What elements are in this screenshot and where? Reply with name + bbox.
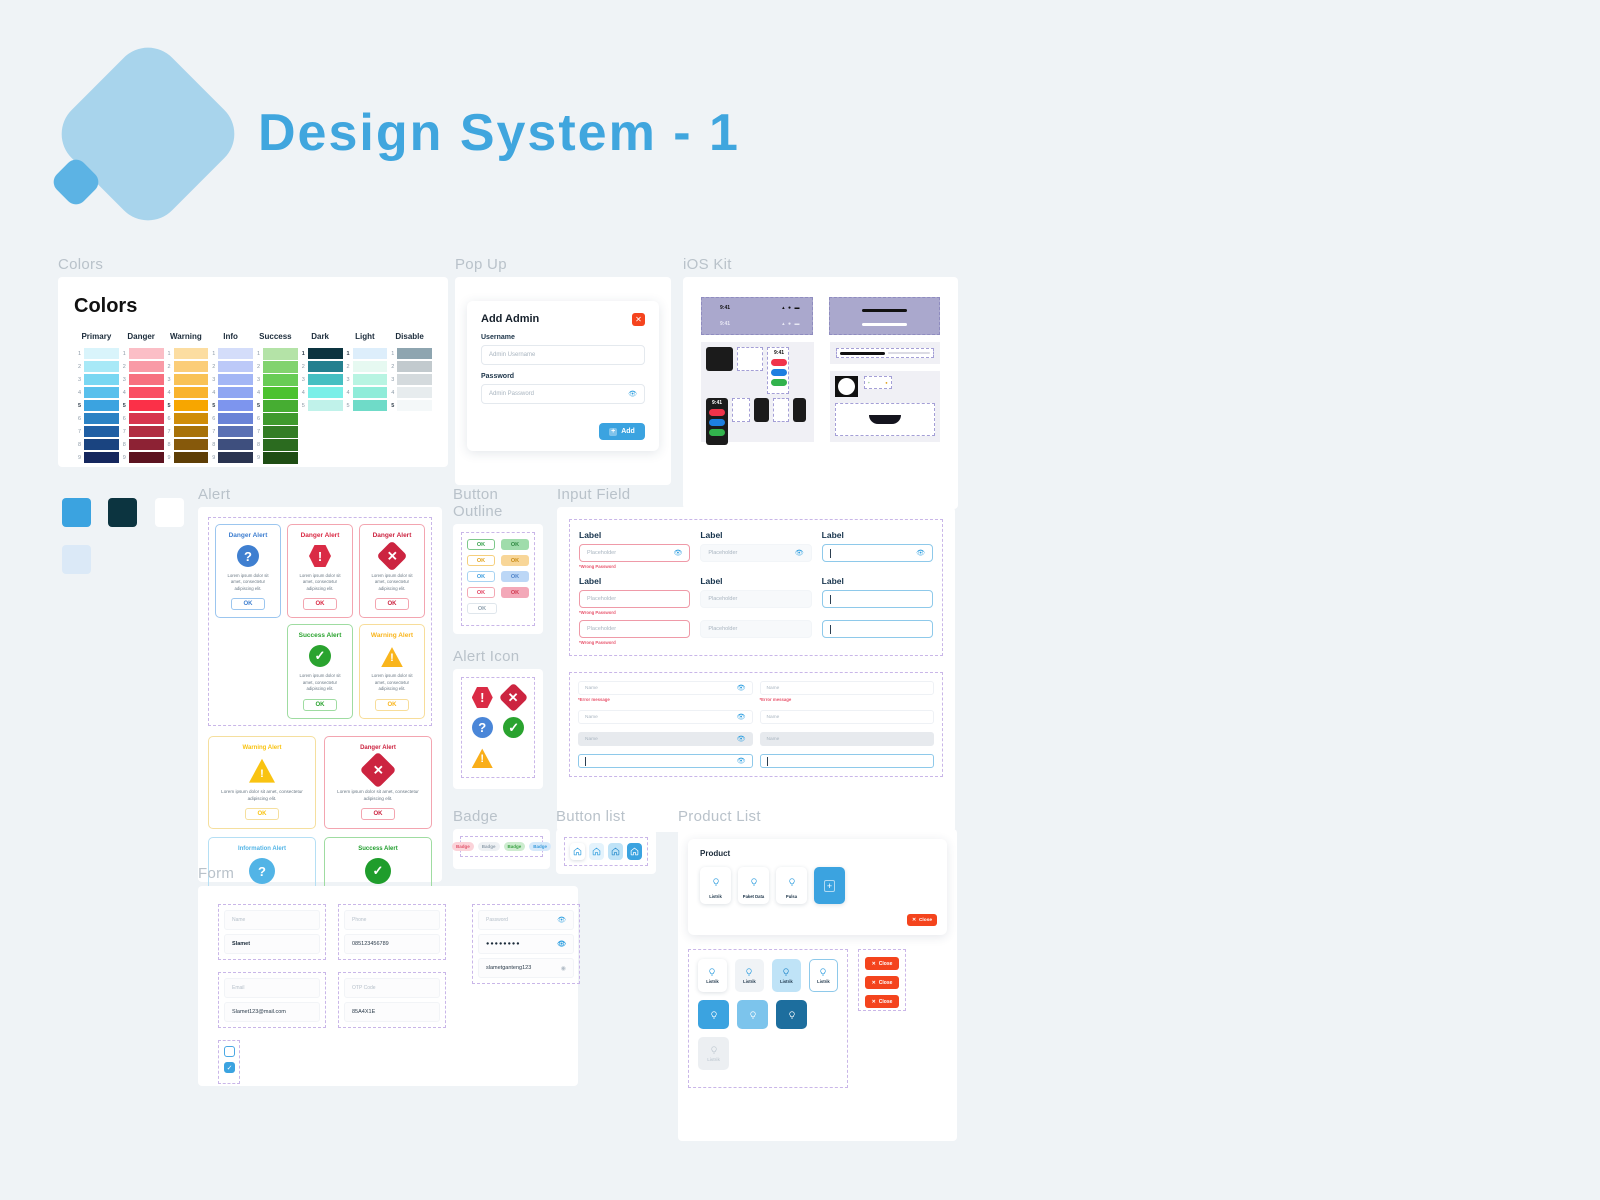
input-error[interactable]: Placeholder <box>579 590 690 608</box>
form-name-placeholder-row[interactable]: Name <box>224 910 320 930</box>
close-button[interactable]: ✕Close <box>865 957 899 970</box>
ok-button-filled[interactable]: OK <box>501 555 529 566</box>
form-otp-group: OTP Code 85A4X1E <box>338 972 446 1028</box>
swatch-row: 9 <box>164 452 209 463</box>
swatch-row: 7 <box>253 426 298 437</box>
form-otp-placeholder-row[interactable]: OTP Code <box>344 978 440 998</box>
popup-card: Add Admin ✕ Username Admin Username Pass… <box>455 277 671 485</box>
swatch <box>174 400 209 411</box>
button-list-item[interactable] <box>570 843 585 860</box>
button-list-item[interactable] <box>627 843 642 860</box>
alert-icon-label: Alert Icon <box>453 648 543 665</box>
ramp-title: Dark <box>298 332 343 341</box>
alert-body: Lorem ipsum dolor sit amet, consectetur … <box>294 673 346 692</box>
swatch-row: 4 <box>164 387 209 398</box>
form-password-group: Password 👁 ●●●●●●●● 👁 slametganteng123 ◉ <box>472 904 580 984</box>
swatch-step: 1 <box>343 351 350 357</box>
alert-ok-button[interactable]: OK <box>231 598 265 610</box>
data-package-icon <box>750 873 758 891</box>
form-password-placeholder-row[interactable]: Password 👁 <box>478 910 574 930</box>
swatch <box>129 400 164 411</box>
swatch-step: 3 <box>74 377 81 383</box>
form-otp-placeholder: OTP Code <box>352 985 376 991</box>
button-list-row <box>564 837 648 866</box>
color-ramp-warning: Warning123456789 <box>164 332 209 465</box>
swatch-row: 1 <box>119 348 164 359</box>
input-focused[interactable] <box>822 590 933 608</box>
small-input-focused[interactable] <box>760 754 935 768</box>
button-outline-section: Button Outline OKOKOKOKOKOKOKOKOK <box>453 486 543 634</box>
swatch <box>397 400 432 411</box>
swatch-row: 6 <box>164 413 209 424</box>
alert-icon: ✕ <box>360 751 397 788</box>
form-password-placeholder: Password <box>486 917 508 923</box>
add-button-label: Add <box>621 428 635 435</box>
eye-icon[interactable]: ◉ <box>561 965 566 972</box>
swatch <box>218 439 253 450</box>
swatch-row: 8 <box>74 439 119 450</box>
swatch-step: 5 <box>119 403 126 409</box>
product-label: Pulsa <box>786 894 797 899</box>
home-icon <box>630 843 639 861</box>
swatch-row: 4 <box>298 387 343 398</box>
input-default-2[interactable]: Placeholder <box>700 620 811 638</box>
form-phone-value-row[interactable]: 085123456789 <box>344 934 440 954</box>
eye-off-icon[interactable]: 👁 <box>737 713 746 721</box>
swatch-step: 4 <box>74 390 81 396</box>
color-ramp-light: Light12345 <box>343 332 388 465</box>
swatch-step: 7 <box>253 429 260 435</box>
alert-ok-button[interactable]: OK <box>245 808 279 820</box>
swatch <box>84 426 119 437</box>
product-label: Listrik <box>707 1057 720 1062</box>
swatch-row: 3 <box>343 374 388 385</box>
password-placeholder: Admin Password <box>489 391 534 397</box>
swatch-row: 7 <box>119 426 164 437</box>
ok-button-outline[interactable]: OK <box>467 539 495 550</box>
alert-title: Information Alert <box>238 846 286 852</box>
form-phone-placeholder-row[interactable]: Phone <box>344 910 440 930</box>
alert-ok-button[interactable]: OK <box>375 699 409 711</box>
lightbulb-icon <box>712 873 720 891</box>
small-input-with-eye[interactable]: Name 👁 <box>578 681 753 695</box>
swatch-step: 1 <box>208 351 215 357</box>
alert-icon-section: Alert Icon !✕?✓! <box>453 648 543 789</box>
diamond-logo-icon <box>55 55 285 230</box>
alert-box: Warning Alert!Lorem ipsum dolor sit amet… <box>359 624 425 718</box>
swatch-step: 4 <box>119 390 126 396</box>
ok-button-outline[interactable]: OK <box>467 603 497 614</box>
lightbulb-icon <box>749 1006 757 1024</box>
close-x-icon: ✕ <box>872 961 876 967</box>
ios-home-indicator-group <box>829 297 940 335</box>
small-input-2[interactable]: Name <box>760 710 935 724</box>
alert-ok-button[interactable]: OK <box>303 699 337 711</box>
alert-grid-top: Danger Alert?Lorem ipsum dolor sit amet,… <box>208 517 432 726</box>
alert-box: Danger Alert?Lorem ipsum dolor sit amet,… <box>215 524 281 618</box>
add-button[interactable]: + Add <box>599 423 645 440</box>
small-input-error: *Error message <box>578 697 753 702</box>
alert-icon: ✕ <box>499 683 529 713</box>
alert-section-label: Alert <box>198 486 442 503</box>
eye-off-icon[interactable]: 👁 <box>557 940 566 948</box>
phone-credit-icon <box>788 873 796 891</box>
product-list-label: Product List <box>678 808 957 825</box>
form-email-placeholder-row[interactable]: Email <box>224 978 320 998</box>
close-button[interactable]: ✕Close <box>865 995 899 1008</box>
swatch-row: 9 <box>119 452 164 463</box>
form-section: Form Name Slamet Email Slamet123@ <box>198 865 578 1086</box>
eye-off-icon[interactable]: 👁 <box>628 390 637 398</box>
input-default[interactable]: Placeholder <box>700 590 811 608</box>
swatch-white <box>155 498 184 527</box>
swatch-row: 8 <box>119 439 164 450</box>
alert-title: Success Alert <box>358 846 397 852</box>
swatch <box>263 374 298 386</box>
swatch-row: 9 <box>74 452 119 463</box>
swatch-step: 4 <box>298 390 305 396</box>
input-group-7: Placeholder *Wrong Password <box>579 620 690 645</box>
swatch <box>84 452 119 463</box>
form-email-value-row[interactable]: Slamet123@mail.com <box>224 1002 320 1022</box>
swatch <box>353 400 388 411</box>
swatch-row: 5 <box>298 400 343 411</box>
form-password-masked: ●●●●●●●● <box>486 941 521 947</box>
eye-off-icon[interactable]: 👁 <box>737 757 746 765</box>
ok-button-outline[interactable]: OK <box>467 555 495 566</box>
signal-wifi-battery-icon-light: ▴ ● ▬ <box>782 321 800 327</box>
ramp-title: Info <box>208 332 253 341</box>
swatch-step: 2 <box>119 364 126 370</box>
small-input-focused-with-eye[interactable]: 👁 <box>578 754 753 768</box>
product-state-card[interactable] <box>776 1000 807 1029</box>
product-close-button[interactable]: ✕ Close <box>907 914 937 926</box>
input-placeholder: Placeholder <box>587 626 616 632</box>
alert-icon: ! <box>309 545 331 567</box>
ok-button-filled[interactable]: OK <box>501 571 529 582</box>
swatch-step: 6 <box>164 416 171 422</box>
username-placeholder: Admin Username <box>489 352 535 358</box>
swatch-row: 5 <box>253 400 298 411</box>
swatch <box>397 374 432 385</box>
alert-title: Success Alert <box>299 632 342 639</box>
swatch-step: 9 <box>253 455 260 461</box>
input-field-card: Label Placeholder 👁 *Wrong Password Labe… <box>557 507 955 832</box>
swatch-step: 2 <box>387 364 394 370</box>
colors-card: Colors Primary123456789Danger123456789Wa… <box>58 277 448 467</box>
alert-icon: ! <box>249 757 275 783</box>
swatch-row: 7 <box>208 426 253 437</box>
input-placeholder: Placeholder <box>708 550 737 556</box>
form-card: Name Slamet Email Slamet123@mail.com <box>198 886 578 1086</box>
swatch-step: 5 <box>298 403 305 409</box>
product-state-card[interactable] <box>737 1000 768 1029</box>
form-email-placeholder: Email <box>232 985 245 991</box>
swatch-step: 7 <box>164 429 171 435</box>
alert-box: Warning Alert!Lorem ipsum dolor sit amet… <box>208 736 316 830</box>
input-small-grid: Name 👁 *Error message Name *Error messag… <box>569 672 943 777</box>
close-diamond-icon: ✕ <box>503 687 524 708</box>
swatch <box>353 374 388 385</box>
swatch <box>84 413 119 424</box>
input-label: Label <box>822 576 933 586</box>
input-error-text: *Wrong Password <box>579 640 690 645</box>
input-label: Label <box>579 530 690 540</box>
swatch-light <box>62 545 91 574</box>
input-placeholder: Placeholder <box>708 626 737 632</box>
signal-wifi-battery-icon: ▴ ● ▬ <box>782 305 800 311</box>
form-password-masked-row[interactable]: ●●●●●●●● 👁 <box>478 934 574 954</box>
alert-body: Lorem ipsum dolor sit amet, consectetur … <box>216 789 308 803</box>
product-state-card[interactable]: Listrik <box>809 959 838 992</box>
button-outline-row: OKOK <box>467 539 529 550</box>
product-panel: Product ListrikPaket DataPulsa+ ✕ Close <box>688 839 947 935</box>
swatch-row: 2 <box>253 361 298 372</box>
form-otp-value: 85A4X1E <box>352 1009 375 1015</box>
swatch <box>353 361 388 372</box>
product-label: Listrik <box>743 979 756 984</box>
swatch <box>218 374 253 385</box>
swatch-row: 2 <box>119 361 164 372</box>
swatch-row: 2 <box>343 361 388 372</box>
close-button[interactable]: ✕Close <box>865 976 899 989</box>
badge-pill: Badge <box>478 842 500 851</box>
product-state-card[interactable]: Listrik <box>735 959 764 992</box>
product-item[interactable]: Pulsa <box>776 867 807 904</box>
add-admin-dialog: Add Admin ✕ Username Admin Username Pass… <box>467 301 659 451</box>
ios-kit-card: 9:41 ▴ ● ▬ 9:41 ▴ ● ▬ 9:41 <box>683 277 958 509</box>
swatch <box>174 439 209 450</box>
alert-icon: ✕ <box>376 540 407 571</box>
swatch <box>218 387 253 398</box>
swatch-row: 1 <box>343 348 388 359</box>
checkbox-unchecked[interactable] <box>224 1046 235 1057</box>
swatch-step: 5 <box>387 403 394 409</box>
small-input-error: *Error message <box>760 697 935 702</box>
alert-icon: ? <box>472 717 493 738</box>
swatch <box>308 361 343 372</box>
color-ramps: Primary123456789Danger123456789Warning12… <box>74 332 432 465</box>
lightbulb-icon <box>819 968 827 977</box>
input-focused-with-eye[interactable]: 👁 <box>822 544 933 562</box>
swatch-step: 8 <box>208 442 215 448</box>
username-input[interactable]: Admin Username <box>481 345 645 365</box>
alert-ok-button[interactable]: OK <box>375 598 409 610</box>
brand-swatches <box>62 498 197 579</box>
form-checkbox-group: ✓ <box>218 1040 240 1084</box>
form-password-revealed: slametganteng123 <box>486 965 531 971</box>
product-add-button[interactable]: + <box>814 867 845 904</box>
swatch-step: 2 <box>74 364 81 370</box>
alert-spacer <box>215 624 281 718</box>
form-name-value-row[interactable]: Slamet <box>224 934 320 954</box>
swatch <box>174 452 209 463</box>
color-ramp-dark: Dark12345 <box>298 332 343 465</box>
alert-title: Warning Alert <box>371 632 413 639</box>
badge-section: Badge BadgeBadgeBadgeBadge <box>453 808 550 869</box>
swatch-row: 1 <box>253 348 298 359</box>
alert-ok-button[interactable]: OK <box>303 598 337 610</box>
product-row: ListrikPaket DataPulsa+ <box>700 867 935 904</box>
form-phone-placeholder: Phone <box>352 917 366 923</box>
product-item[interactable]: Listrik <box>700 867 731 904</box>
small-input-placeholder: Name <box>585 737 598 742</box>
swatch <box>397 361 432 372</box>
eye-off-icon: 👁 <box>737 735 746 743</box>
product-label: Listrik <box>817 979 830 984</box>
product-state-grid: ListrikListrikListrikListrikListrik <box>688 949 848 1088</box>
swatch-row: 1 <box>387 348 432 359</box>
close-label: Close <box>879 980 893 986</box>
ok-button-filled[interactable]: OK <box>501 539 529 550</box>
alert-title: Danger Alert <box>229 532 268 539</box>
home-icon <box>592 843 601 861</box>
password-label: Password <box>481 373 645 380</box>
close-button-variants: ✕Close✕Close✕Close <box>858 949 906 1011</box>
ios-kit-section-label: iOS Kit <box>683 256 958 273</box>
swatch-step: 9 <box>119 455 126 461</box>
lightbulb-icon <box>710 1046 718 1055</box>
alert-body: Lorem ipsum dolor sit amet, consectetur … <box>366 673 418 692</box>
swatch-step: 5 <box>74 403 81 409</box>
input-group-1: Label Placeholder 👁 *Wrong Password <box>579 530 690 569</box>
home-icon <box>611 843 620 861</box>
swatch-step: 6 <box>74 416 81 422</box>
close-x-icon[interactable]: ✕ <box>632 313 645 326</box>
eye-off-icon[interactable]: 👁 <box>916 549 925 557</box>
badge-row: BadgeBadgeBadgeBadge <box>460 836 543 857</box>
product-state-card[interactable]: Listrik <box>698 959 727 992</box>
swatch <box>218 400 253 411</box>
swatch-step: 1 <box>74 351 81 357</box>
swatch <box>353 387 388 398</box>
eye-off-icon[interactable]: 👁 <box>557 916 566 924</box>
input-error-with-eye[interactable]: Placeholder 👁 <box>579 544 690 562</box>
swatch-row: 2 <box>208 361 253 372</box>
swatch-step: 4 <box>208 390 215 396</box>
colors-section: Colors Colors Primary123456789Danger1234… <box>58 256 448 467</box>
badge-pill: Badge <box>452 842 474 851</box>
swatch-step: 1 <box>253 351 260 357</box>
eye-off-icon[interactable]: 👁 <box>737 684 746 692</box>
small-input[interactable]: Name <box>760 681 935 695</box>
form-phone-group: Phone 085123456789 <box>338 904 446 960</box>
swatch-step: 3 <box>208 377 215 383</box>
ok-button-filled[interactable]: OK <box>501 587 529 598</box>
small-input-group-2: Name *Error message <box>760 681 935 702</box>
input-label: Label <box>700 576 811 586</box>
color-ramp-success: Success123456789 <box>253 332 298 465</box>
input-group-6: Label <box>822 576 933 615</box>
ios-statusbar-group: 9:41 ▴ ● ▬ 9:41 ▴ ● ▬ <box>701 297 813 335</box>
swatch-row: 6 <box>253 413 298 424</box>
ok-button-outline[interactable]: OK <box>467 587 495 598</box>
input-field-grid: Label Placeholder 👁 *Wrong Password Labe… <box>569 519 943 656</box>
input-group-2: Label Placeholder 👁 <box>700 530 811 569</box>
swatch <box>308 387 343 398</box>
input-group-9 <box>822 620 933 645</box>
button-list-item[interactable] <box>589 843 604 860</box>
text-caret <box>830 595 831 604</box>
alert-box: Danger Alert✕Lorem ipsum dolor sit amet,… <box>359 524 425 618</box>
swatch-row: 2 <box>387 361 432 372</box>
close-x-icon: ✕ <box>872 980 876 986</box>
swatch-row: 4 <box>343 387 388 398</box>
product-item[interactable]: Paket Data <box>738 867 769 904</box>
swatch-row: 3 <box>119 374 164 385</box>
swatch-step: 9 <box>164 455 171 461</box>
form-password-revealed-row[interactable]: slametganteng123 ◉ <box>478 958 574 978</box>
swatch <box>308 374 343 385</box>
checkbox-checked[interactable]: ✓ <box>224 1062 235 1073</box>
product-state-card[interactable]: Listrik <box>772 959 801 992</box>
input-group-3: Label 👁 <box>822 530 933 569</box>
swatch <box>218 348 253 359</box>
form-name-group: Name Slamet <box>218 904 326 960</box>
eye-off-icon[interactable]: 👁 <box>673 549 682 557</box>
swatch <box>84 374 119 385</box>
input-focused-2[interactable] <box>822 620 933 638</box>
lightbulb-icon <box>745 968 753 977</box>
form-phone-value: 085123456789 <box>352 941 389 947</box>
home-icon <box>573 843 582 861</box>
form-name-placeholder: Name <box>232 917 245 923</box>
swatch-step: 7 <box>208 429 215 435</box>
swatch-row: 8 <box>253 439 298 450</box>
swatch <box>129 361 164 372</box>
swatch-step: 3 <box>387 377 394 383</box>
ok-button-outline[interactable]: OK <box>467 571 495 582</box>
swatch-row: 5 <box>74 400 119 411</box>
swatch-step: 2 <box>253 364 260 370</box>
swatch-row: 4 <box>208 387 253 398</box>
alert-title: Danger Alert <box>373 532 412 539</box>
swatch <box>263 413 298 425</box>
swatch <box>174 374 209 385</box>
ramp-title: Disable <box>387 332 432 341</box>
input-placeholder: Placeholder <box>587 550 616 556</box>
swatch <box>84 400 119 411</box>
button-list-item[interactable] <box>608 843 623 860</box>
plus-square-icon: + <box>824 880 835 892</box>
password-input[interactable]: Admin Password 👁 <box>481 384 645 404</box>
swatch <box>84 361 119 372</box>
product-label: Listrik <box>706 979 719 984</box>
swatch-step: 6 <box>119 416 126 422</box>
swatch-row: 4 <box>119 387 164 398</box>
color-ramp-info: Info123456789 <box>208 332 253 465</box>
alert-box: Danger Alert✕Lorem ipsum dolor sit amet,… <box>324 736 432 830</box>
swatch-step: 3 <box>298 377 305 383</box>
product-state-card[interactable] <box>698 1000 729 1029</box>
swatch-row: 2 <box>164 361 209 372</box>
swatch-step: 4 <box>387 390 394 396</box>
swatch-step: 3 <box>119 377 126 383</box>
button-outline-label: Button Outline <box>453 486 543 520</box>
small-input-with-eye-2[interactable]: Name 👁 <box>578 710 753 724</box>
swatch <box>129 439 164 450</box>
small-input-placeholder: Name <box>767 686 780 691</box>
small-input-placeholder: Name <box>585 686 598 691</box>
alert-ok-button[interactable]: OK <box>361 808 395 820</box>
input-error-2[interactable]: Placeholder <box>579 620 690 638</box>
input-default-with-eye[interactable]: Placeholder 👁 <box>700 544 811 562</box>
button-outline-row: OKOK <box>467 587 529 598</box>
eye-off-icon[interactable]: 👁 <box>795 549 804 557</box>
swatch <box>174 413 209 424</box>
form-otp-value-row[interactable]: 85A4X1E <box>344 1002 440 1022</box>
swatch-row: 3 <box>298 374 343 385</box>
